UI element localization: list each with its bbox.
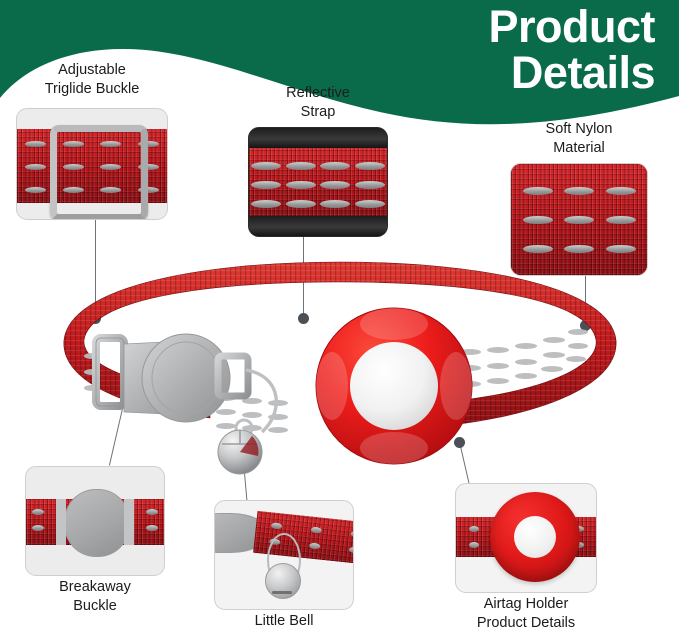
product-hero-collar xyxy=(0,0,679,641)
hero-airtag-holder xyxy=(316,308,472,464)
product-details-infographic: Product Details Adjustable Triglide Buck… xyxy=(0,0,679,641)
